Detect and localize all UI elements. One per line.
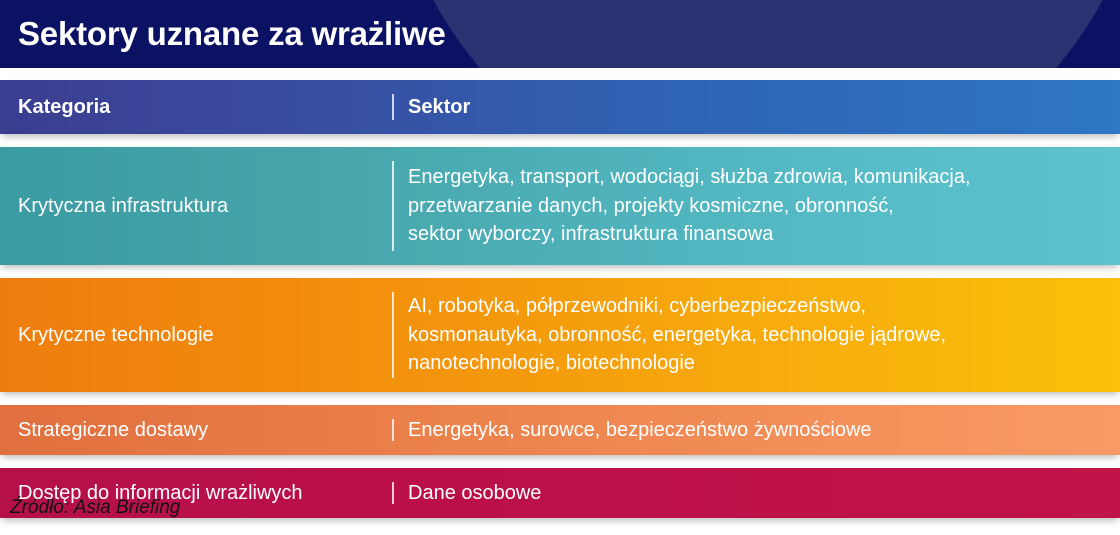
- row-sector-text: Energetyka, surowce, bezpieczeństwo żywn…: [408, 416, 872, 444]
- row-sector-line: sektor wyborczy, infrastruktura finansow…: [408, 220, 971, 248]
- row-sector-text: Dane osobowe: [408, 479, 541, 507]
- column-divider: [392, 94, 394, 120]
- table-row: Krytyczna infrastruktura Energetyka, tra…: [0, 147, 1120, 265]
- infographic-root: Sektory uznane za wrażliwe Kategoria Sek…: [0, 0, 1120, 535]
- row-category-label: Krytyczne technologie: [18, 323, 214, 348]
- row-sector-line: nanotechnologie, biotechnologie: [408, 349, 946, 377]
- row-category-label: Strategiczne dostawy: [18, 418, 208, 443]
- table-row: Strategiczne dostawy Energetyka, surowce…: [0, 405, 1120, 455]
- row-sector-line: kosmonautyka, obronność, energetyka, tec…: [408, 321, 946, 349]
- source-attribution: Źródło: Asia Briefing: [10, 497, 180, 519]
- table-row: Krytyczne technologie AI, robotyka, półp…: [0, 278, 1120, 392]
- title-band: Sektory uznane za wrażliwe: [0, 0, 1120, 68]
- column-header-sector: Sektor: [392, 80, 1120, 134]
- table-header-row: Kategoria Sektor: [0, 80, 1120, 134]
- row-sector-cell: AI, robotyka, półprzewodniki, cyberbezpi…: [392, 278, 1120, 392]
- row-sector-cell: Energetyka, surowce, bezpieczeństwo żywn…: [392, 405, 1120, 455]
- page-title: Sektory uznane za wrażliwe: [18, 15, 446, 53]
- row-sector-line: AI, robotyka, półprzewodniki, cyberbezpi…: [408, 292, 946, 320]
- row-sector-text: AI, robotyka, półprzewodniki, cyberbezpi…: [408, 292, 946, 377]
- column-divider: [392, 161, 394, 251]
- column-divider: [392, 482, 394, 504]
- row-category-cell: Krytyczna infrastruktura: [0, 147, 392, 265]
- row-sector-line: Energetyka, transport, wodociągi, służba…: [408, 163, 971, 191]
- row-sector-line: Dane osobowe: [408, 479, 541, 507]
- row-sector-line: przetwarzanie danych, projekty kosmiczne…: [408, 192, 971, 220]
- column-header-category: Kategoria: [0, 80, 392, 134]
- row-sector-line: Energetyka, surowce, bezpieczeństwo żywn…: [408, 416, 872, 444]
- decorative-circle-icon: [700, 0, 1120, 30]
- decorative-circle-icon: [458, 0, 1078, 68]
- column-divider: [392, 292, 394, 378]
- row-category-cell: Strategiczne dostawy: [0, 405, 392, 455]
- row-sector-cell: Energetyka, transport, wodociągi, służba…: [392, 147, 1120, 265]
- decorative-circle-icon: [388, 0, 1120, 68]
- row-sector-cell: Dane osobowe: [392, 468, 1120, 518]
- row-sector-text: Energetyka, transport, wodociągi, służba…: [408, 163, 971, 248]
- row-category-cell: Krytyczne technologie: [0, 278, 392, 392]
- column-header-sector-label: Sektor: [408, 96, 470, 119]
- column-header-category-label: Kategoria: [18, 96, 110, 119]
- row-category-label: Krytyczna infrastruktura: [18, 194, 228, 219]
- column-divider: [392, 419, 394, 441]
- sensitive-sectors-table: Kategoria Sektor Krytyczna infrastruktur…: [0, 68, 1120, 518]
